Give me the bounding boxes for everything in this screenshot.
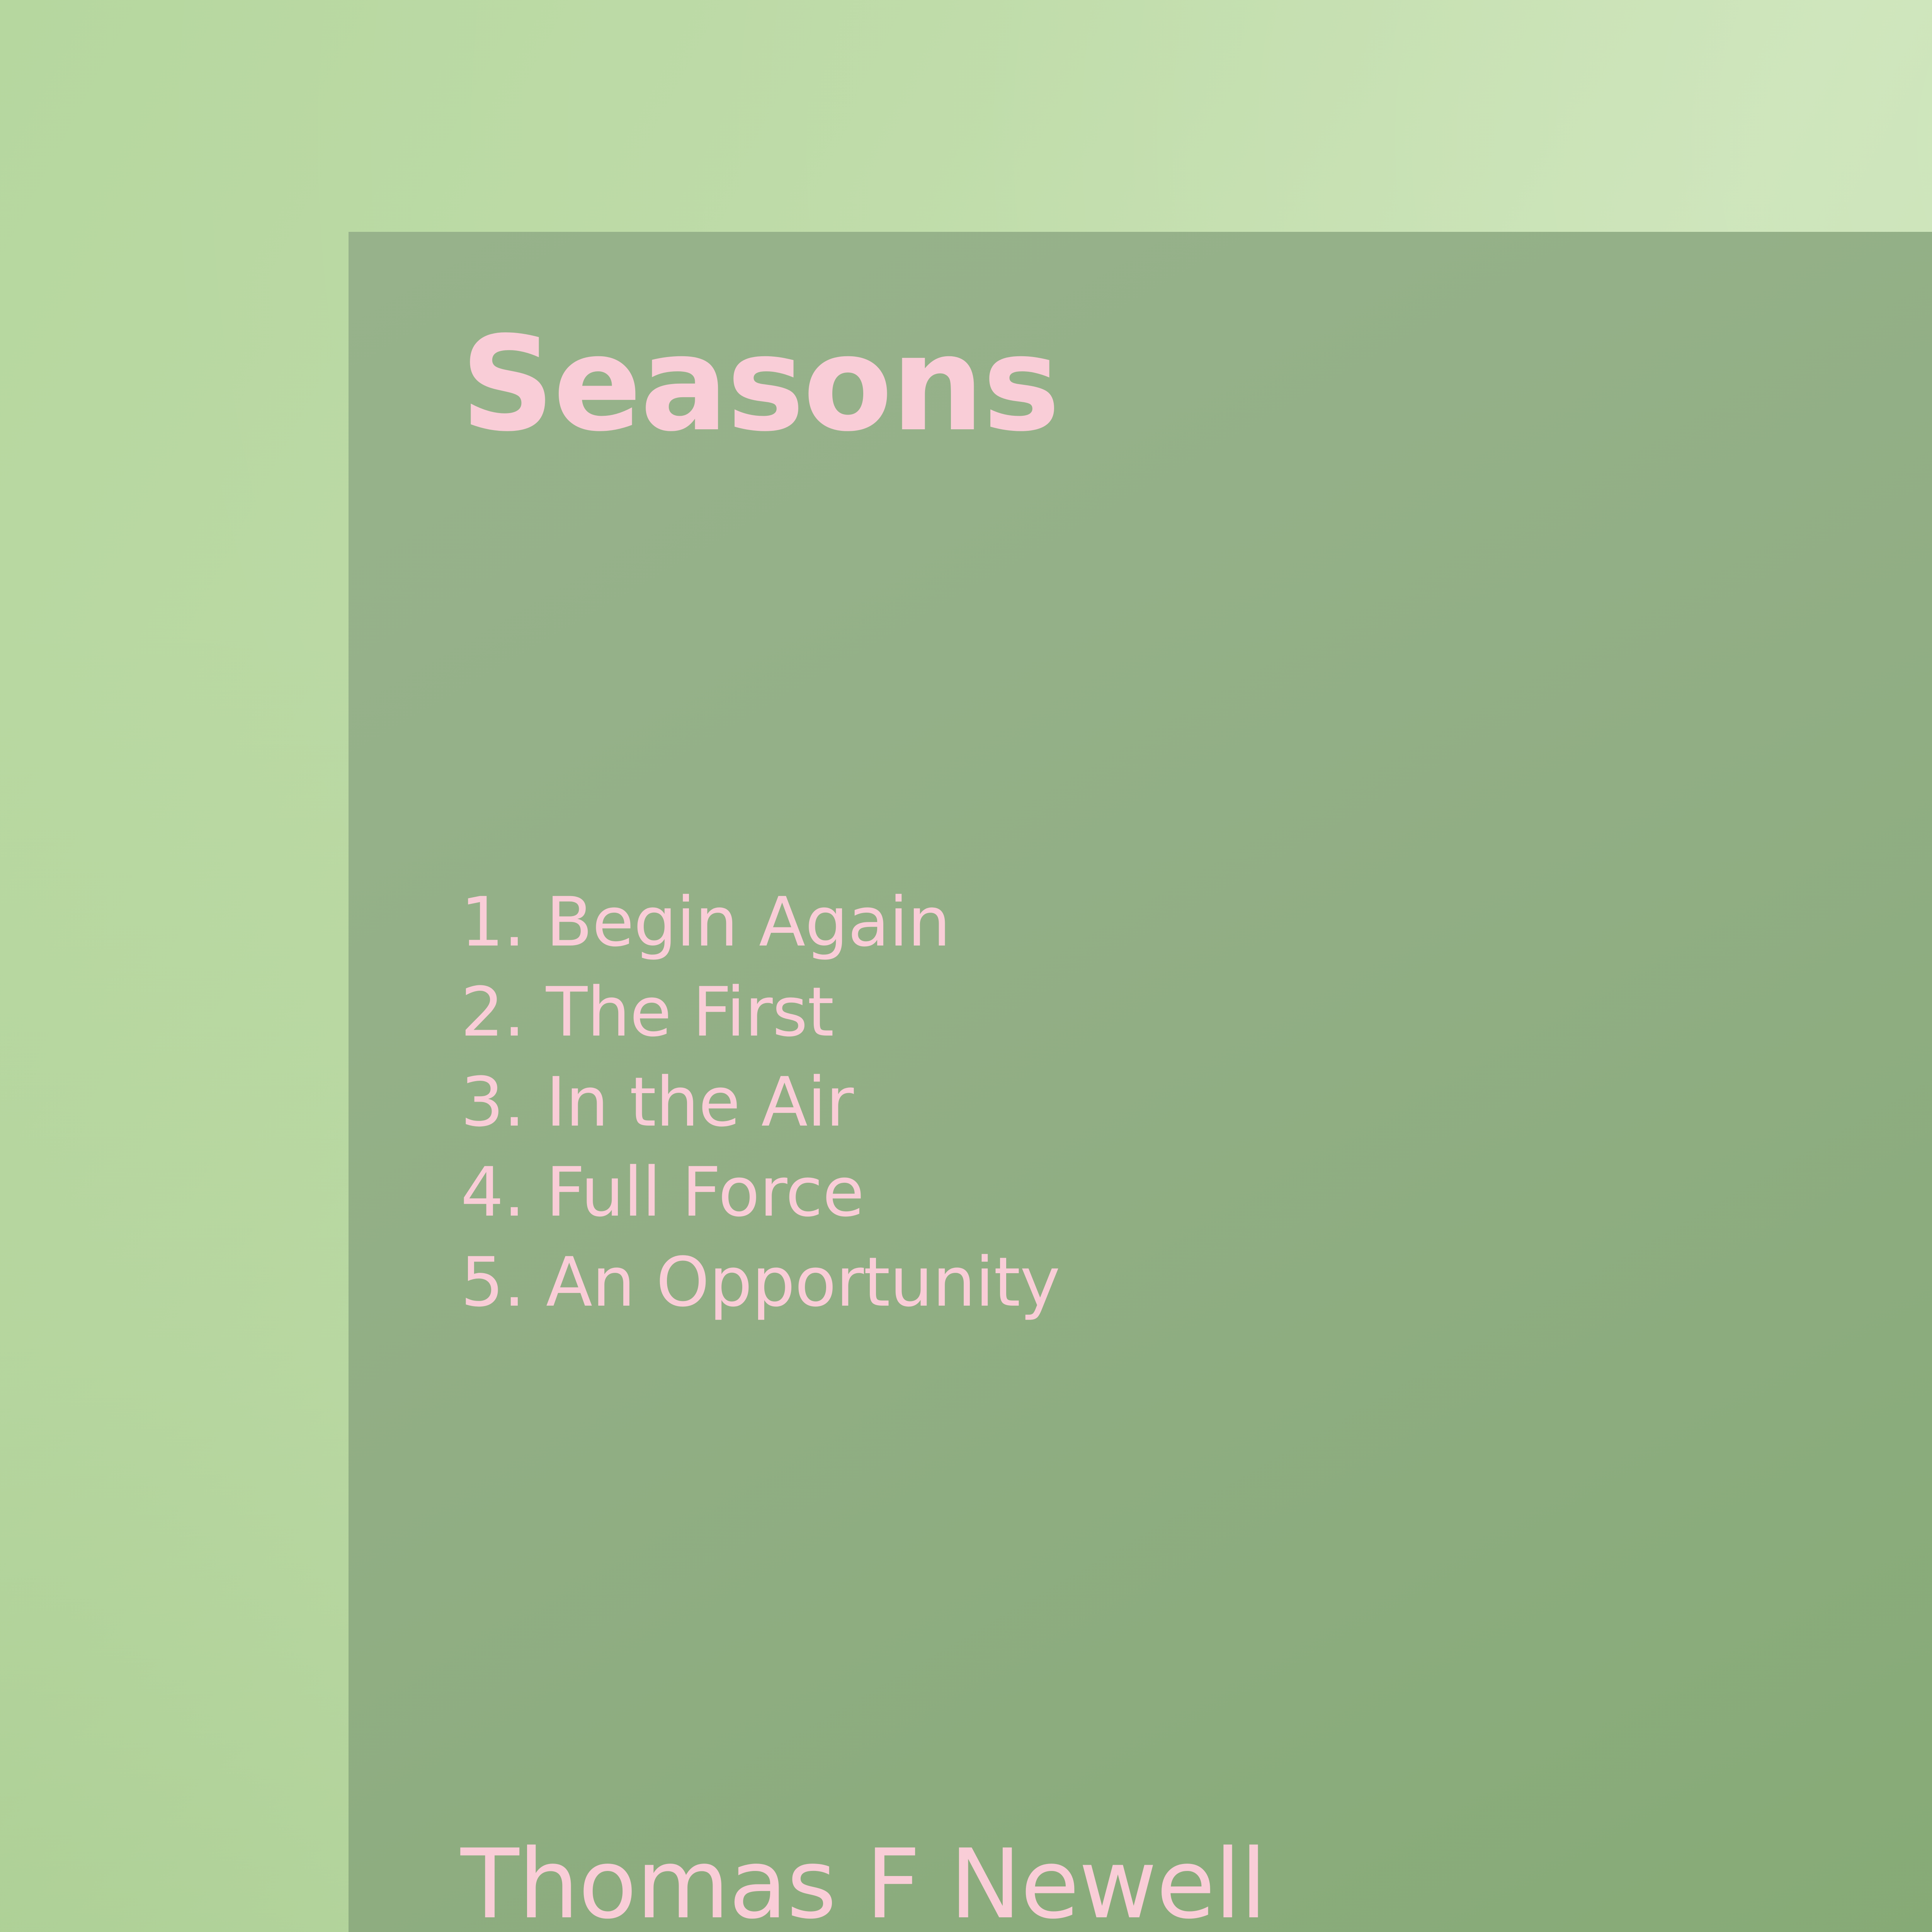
track-list-item: 4. Full Force [461, 1147, 1060, 1237]
track-list-item: 1. Begin Again [461, 877, 1060, 967]
album-card: Seasons 1. Begin Again 2. The First 3. I… [349, 232, 1932, 1932]
track-number: 3. [461, 1063, 546, 1142]
track-list-item: 2. The First [461, 967, 1060, 1057]
track-title: Full Force [546, 1153, 864, 1232]
track-title: Begin Again [546, 883, 951, 962]
artist-name: Thomas F Newell [461, 1837, 1266, 1932]
track-title: In the Air [546, 1063, 854, 1142]
tracklist: 1. Begin Again 2. The First 3. In the Ai… [461, 877, 1060, 1327]
track-number: 1. [461, 883, 546, 962]
track-title: An Opportunity [546, 1243, 1060, 1322]
album-title: Seasons [461, 319, 1059, 449]
track-list-item: 5. An Opportunity [461, 1237, 1060, 1327]
track-number: 4. [461, 1153, 546, 1232]
track-title: The First [546, 973, 834, 1052]
track-number: 5. [461, 1243, 546, 1322]
track-list-item: 3. In the Air [461, 1057, 1060, 1147]
track-number: 2. [461, 973, 546, 1052]
album-cover-poster: Seasons 1. Begin Again 2. The First 3. I… [0, 0, 1932, 1932]
